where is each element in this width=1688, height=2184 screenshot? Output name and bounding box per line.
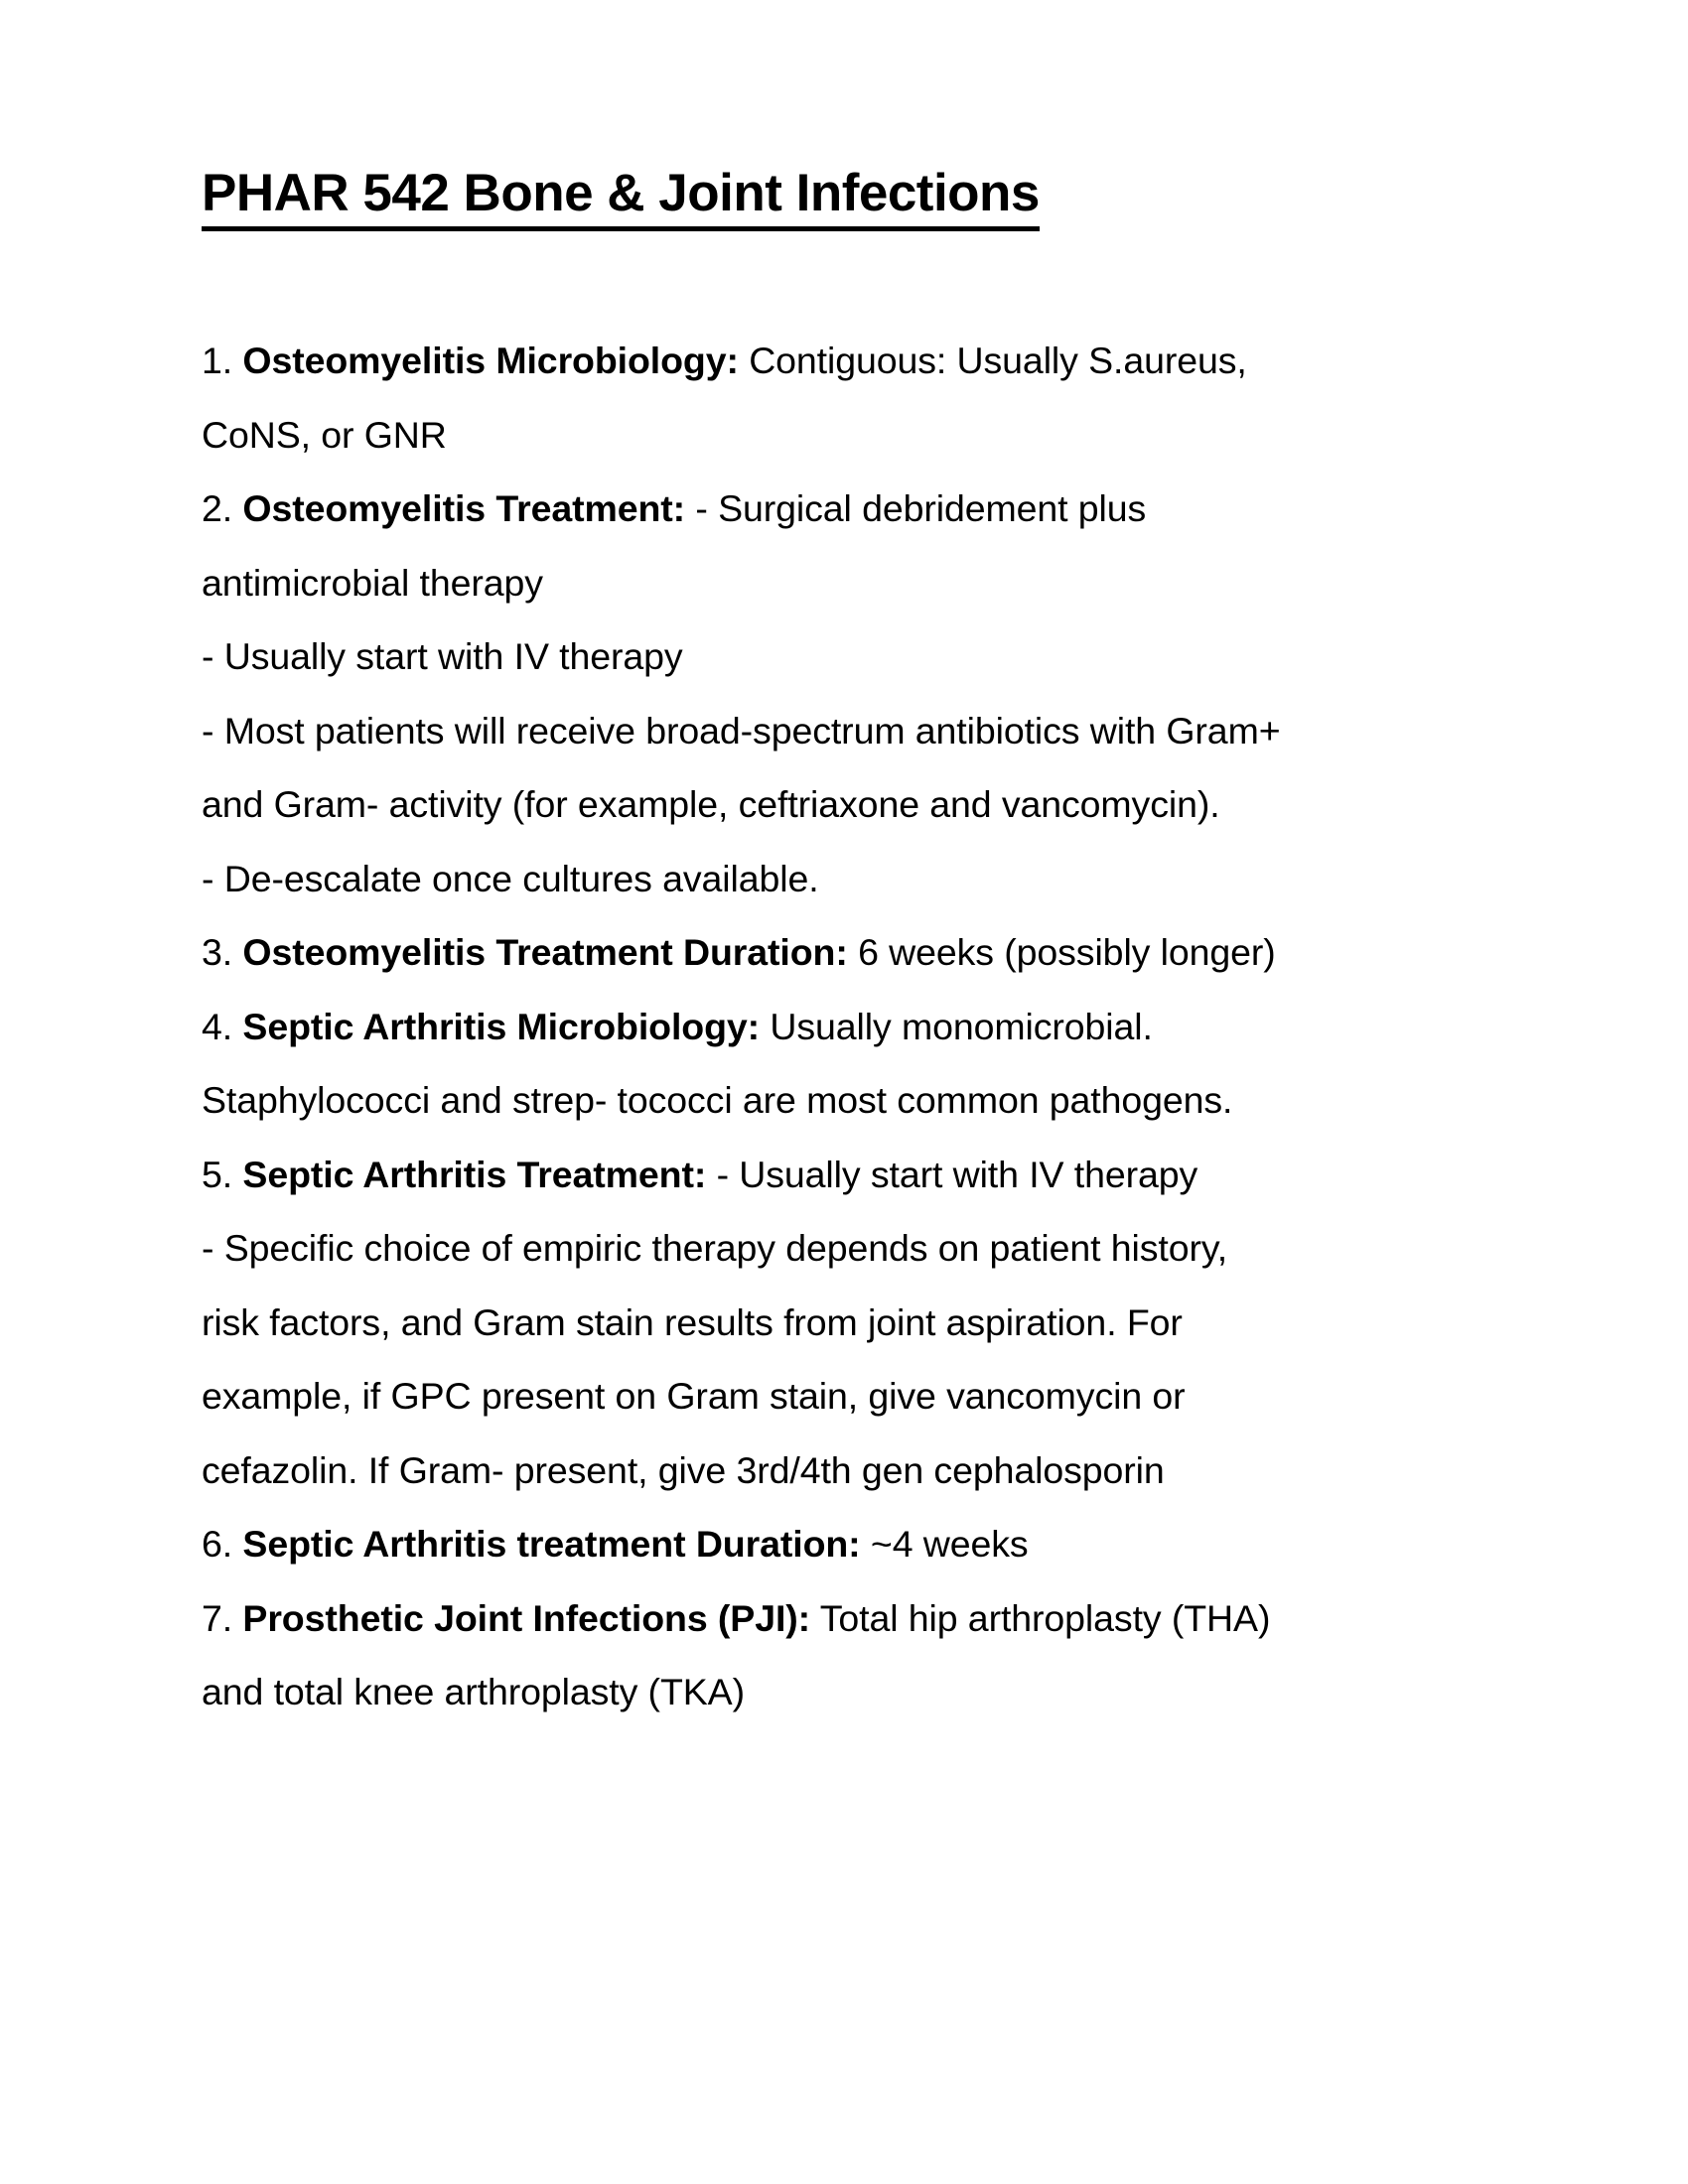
list-item-continuation: CoNS, or GNR bbox=[202, 398, 1492, 473]
list-item-rest: ~4 weeks bbox=[861, 1523, 1029, 1565]
list-item-bullet: cefazolin. If Gram- present, give 3rd/4t… bbox=[202, 1433, 1492, 1508]
list-item-continuation: antimicrobial therapy bbox=[202, 546, 1492, 620]
list-item-lead: Septic Arthritis Treatment: bbox=[242, 1154, 706, 1195]
list-item-bullet: - De-escalate once cultures available. bbox=[202, 842, 1492, 916]
list-item-bullet: - Usually start with IV therapy bbox=[202, 619, 1492, 694]
list-item-continuation: and total knee arthroplasty (TKA) bbox=[202, 1655, 1492, 1729]
document-page: PHAR 542 Bone & Joint Infections 1. Oste… bbox=[0, 0, 1688, 2184]
list-item-lead: Prosthetic Joint Infections (PJI): bbox=[242, 1597, 810, 1639]
list-item-rest: 6 weeks (possibly longer) bbox=[848, 931, 1276, 973]
list-item: 3. Osteomyelitis Treatment Duration: 6 w… bbox=[202, 915, 1492, 990]
list-item-lead: Septic Arthritis Microbiology: bbox=[242, 1006, 760, 1047]
list-item: 2. Osteomyelitis Treatment: - Surgical d… bbox=[202, 472, 1492, 546]
list-item-bullet: and Gram- activity (for example, ceftria… bbox=[202, 767, 1492, 842]
list-item-lead: Osteomyelitis Treatment Duration: bbox=[242, 931, 847, 973]
list-item-bullet: - Most patients will receive broad-spect… bbox=[202, 694, 1492, 768]
list-item-number: 5. bbox=[202, 1154, 232, 1195]
list-item-bullet: - Specific choice of empiric therapy dep… bbox=[202, 1211, 1492, 1286]
list-item-number: 7. bbox=[202, 1597, 232, 1639]
list-item-rest: - Usually start with IV therapy bbox=[706, 1154, 1197, 1195]
list-item-rest: Total hip arthroplasty (THA) bbox=[810, 1597, 1270, 1639]
notes-list: 1. Osteomyelitis Microbiology: Contiguou… bbox=[202, 324, 1492, 1729]
list-item-lead: Septic Arthritis treatment Duration: bbox=[242, 1523, 860, 1565]
list-item-number: 1. bbox=[202, 340, 232, 381]
list-item-rest: - Surgical debridement plus bbox=[685, 487, 1146, 529]
list-item: 1. Osteomyelitis Microbiology: Contiguou… bbox=[202, 324, 1492, 398]
list-item: 6. Septic Arthritis treatment Duration: … bbox=[202, 1507, 1492, 1581]
document-content: PHAR 542 Bone & Joint Infections 1. Oste… bbox=[202, 164, 1492, 1729]
list-item-bullet: example, if GPC present on Gram stain, g… bbox=[202, 1359, 1492, 1433]
list-item-number: 4. bbox=[202, 1006, 232, 1047]
list-item: 7. Prosthetic Joint Infections (PJI): To… bbox=[202, 1581, 1492, 1656]
list-item-continuation: Staphylococci and strep- tococci are mos… bbox=[202, 1063, 1492, 1138]
list-item-number: 3. bbox=[202, 931, 232, 973]
list-item-lead: Osteomyelitis Microbiology: bbox=[242, 340, 738, 381]
list-item: 4. Septic Arthritis Microbiology: Usuall… bbox=[202, 990, 1492, 1064]
page-title: PHAR 542 Bone & Joint Infections bbox=[202, 164, 1040, 231]
list-item: 5. Septic Arthritis Treatment: - Usually… bbox=[202, 1138, 1492, 1212]
list-item-rest: Usually monomicrobial. bbox=[760, 1006, 1153, 1047]
list-item-number: 6. bbox=[202, 1523, 232, 1565]
list-item-bullet: risk factors, and Gram stain results fro… bbox=[202, 1286, 1492, 1360]
list-item-lead: Osteomyelitis Treatment: bbox=[242, 487, 685, 529]
list-item-number: 2. bbox=[202, 487, 232, 529]
list-item-rest: Contiguous: Usually S.aureus, bbox=[739, 340, 1247, 381]
